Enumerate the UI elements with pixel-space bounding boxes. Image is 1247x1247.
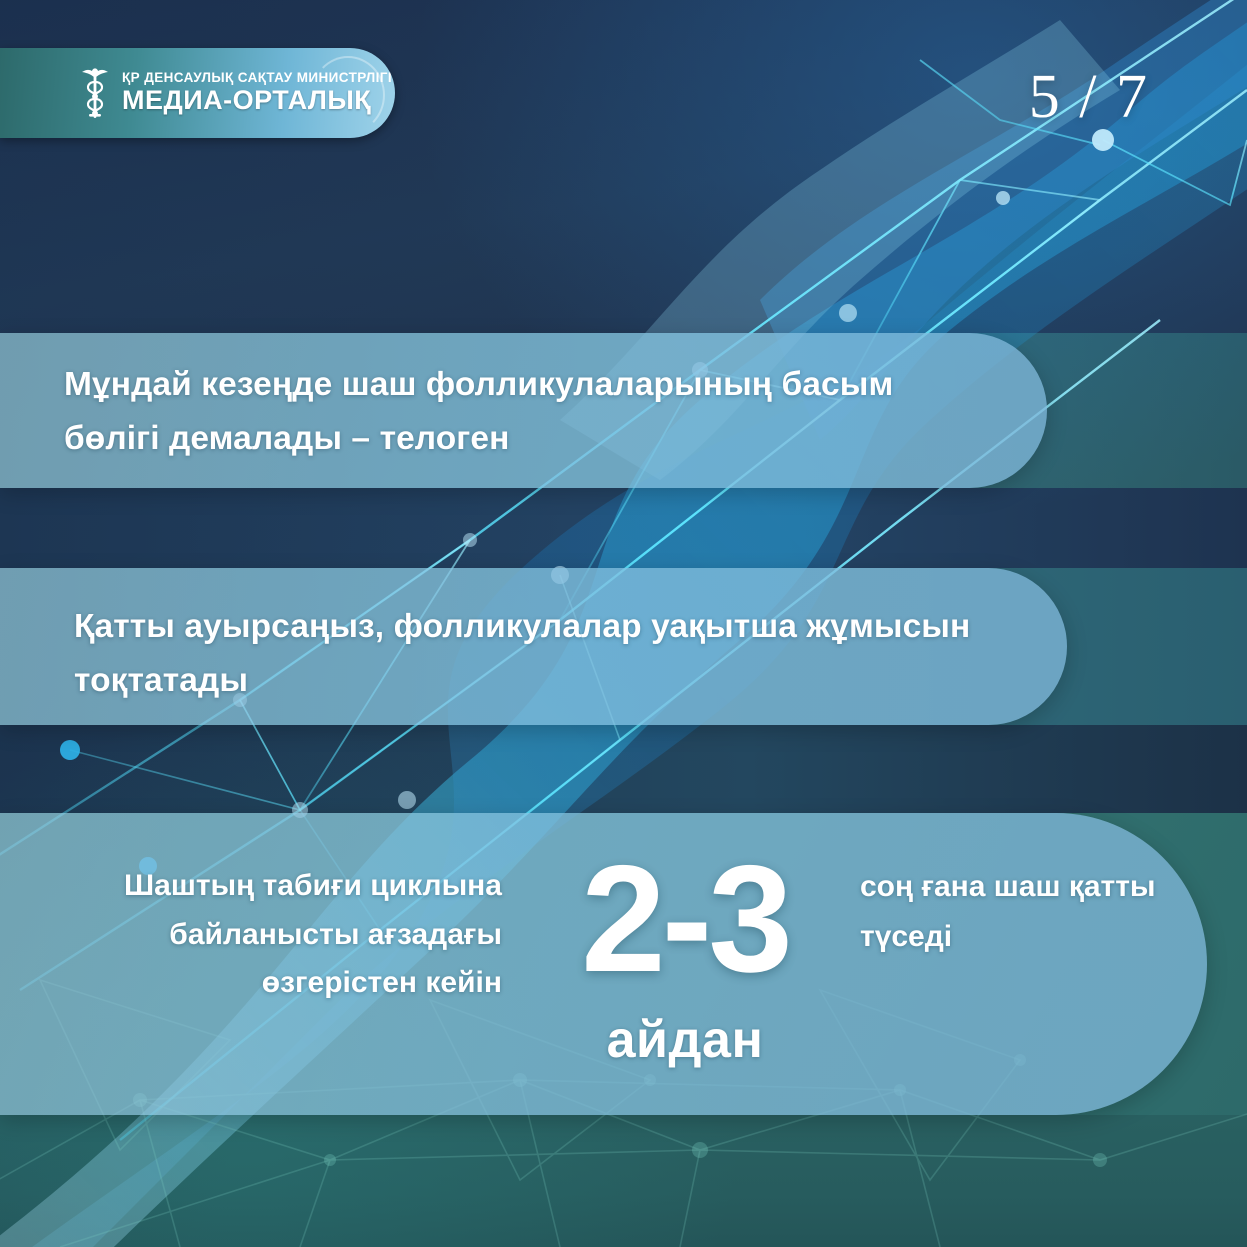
band-footer xyxy=(0,1115,1247,1247)
block-3-unit: айдан xyxy=(520,1010,850,1070)
logo-text-group: ҚР ДЕНСАУЛЫҚ САҚТАУ МИНИСТРЛІГІ МЕДИА-ОР… xyxy=(122,71,392,116)
media-center-logo: ҚР ДЕНСАУЛЫҚ САҚТАУ МИНИСТРЛІГІ МЕДИА-ОР… xyxy=(0,48,395,138)
band-gap-2 xyxy=(0,725,1247,813)
logo-brand-line: МЕДИА-ОРТАЛЫҚ xyxy=(122,86,392,116)
block-1-text: Мұндай кезеңде шаш фолликулаларының басы… xyxy=(64,358,964,467)
block-3-right-text: соң ғана шаш қатты түседі xyxy=(860,862,1160,962)
infographic-slide: ҚР ДЕНСАУЛЫҚ САҚТАУ МИНИСТРЛІГІ МЕДИА-ОР… xyxy=(0,0,1247,1247)
logo-ministry-line: ҚР ДЕНСАУЛЫҚ САҚТАУ МИНИСТРЛІГІ xyxy=(122,71,392,86)
block-3-number: 2-3 xyxy=(520,840,850,1000)
band-gap-1 xyxy=(0,488,1247,568)
caduceus-icon xyxy=(78,64,112,122)
block-3-left-text: Шаштың табиғи циклына байланысты ағзадағ… xyxy=(90,862,502,1008)
block-2-text: Қатты ауырсаңыз, фолликулалар уақытша жұ… xyxy=(74,600,974,709)
page-counter: 5 / 7 xyxy=(1029,62,1149,133)
